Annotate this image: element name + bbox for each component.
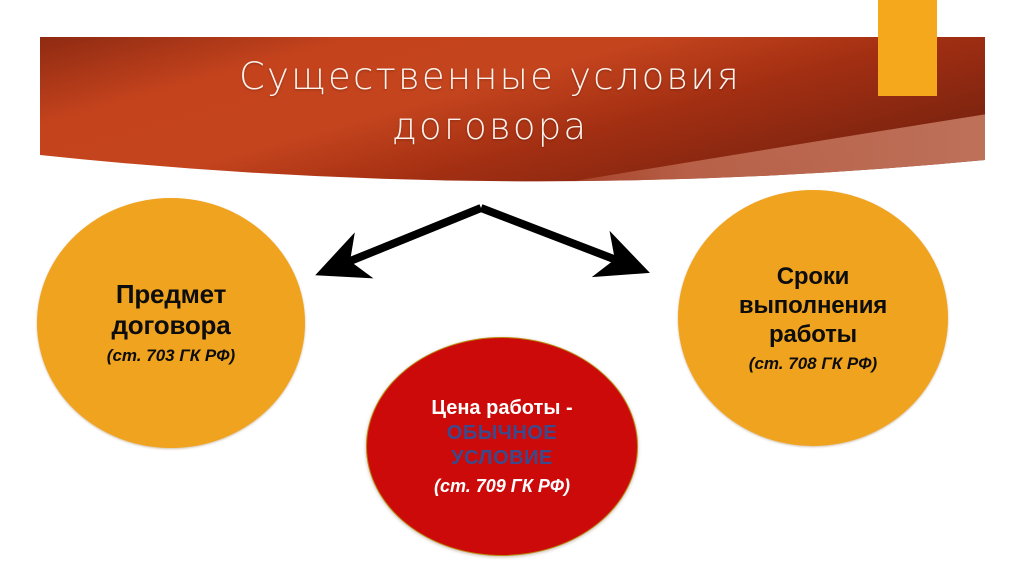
node-price-usual-condition-line-1: ОБЫЧНОЕ: [447, 421, 557, 446]
slide-canvas: Существенные условия договора Предмет до…: [0, 0, 1024, 574]
node-deadlines-title-line-2: выполнения: [739, 291, 887, 320]
node-subject-title-line-1: Предмет: [111, 279, 230, 310]
node-price-usual-condition-line-2: УСЛОВИЕ: [451, 446, 553, 471]
node-subject-title-line-2: договора: [111, 310, 230, 341]
node-work-deadlines[interactable]: Сроки выполнения работы (ст. 708 ГК РФ): [678, 190, 948, 446]
node-subject-article-reference: (ст. 703 ГК РФ): [107, 345, 235, 367]
node-deadlines-title-line-1: Сроки: [739, 262, 887, 291]
page-title-line-2: договора: [140, 102, 840, 152]
accent-bar: [878, 0, 937, 96]
node-subject-title: Предмет договора: [111, 279, 230, 341]
arrow-to-left-circle: [333, 208, 481, 268]
page-title: Существенные условия договора: [140, 52, 840, 152]
node-price-article-reference: (ст. 709 ГК РФ): [434, 474, 570, 498]
node-deadlines-title-line-3: работы: [739, 320, 887, 349]
node-subject-of-contract[interactable]: Предмет договора (ст. 703 ГК РФ): [37, 198, 305, 448]
node-deadlines-article-reference: (ст. 708 ГК РФ): [749, 353, 877, 375]
arrow-to-right-circle: [481, 208, 632, 266]
node-price-title: Цена работы -: [431, 395, 572, 421]
node-deadlines-title: Сроки выполнения работы: [739, 262, 887, 349]
page-title-line-1: Существенные условия: [140, 52, 840, 102]
node-price-of-work[interactable]: Цена работы - ОБЫЧНОЕ УСЛОВИЕ (ст. 709 Г…: [366, 337, 638, 556]
